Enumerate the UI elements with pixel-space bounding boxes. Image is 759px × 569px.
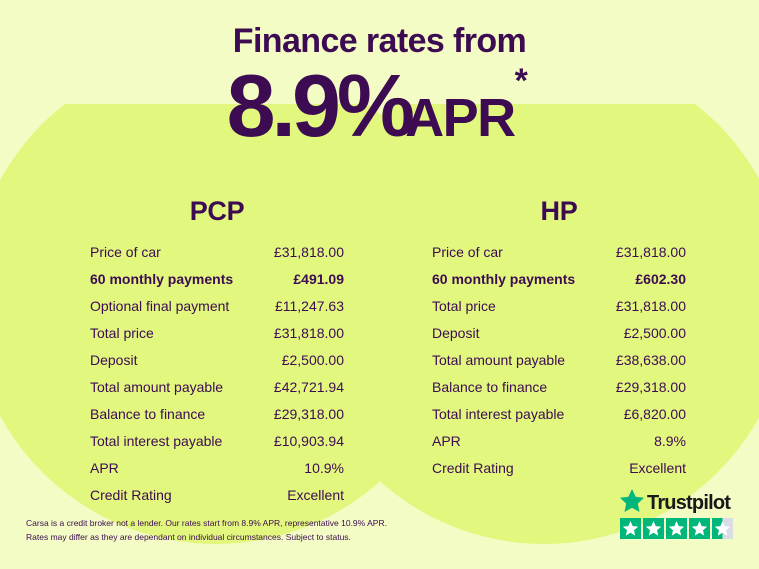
table-row: Total interest payable £6,820.00 — [432, 407, 686, 434]
plan-card-hp: HP Price of car £31,818.00 60 monthly pa… — [432, 196, 686, 488]
row-value: £6,820.00 — [624, 407, 686, 421]
poster-content: Finance rates from 8.9%APR* PCP Price of… — [0, 0, 759, 569]
table-row: Price of car £31,818.00 — [432, 245, 686, 272]
headline-rate-value: 8.9% — [227, 56, 412, 155]
table-row: Total price £31,818.00 — [432, 299, 686, 326]
disclaimer-line-1: Carsa is a credit broker not a lender. O… — [26, 517, 446, 531]
row-label: Optional final payment — [90, 299, 229, 313]
row-label: Total price — [432, 299, 496, 313]
table-row: Optional final payment £11,247.63 — [90, 299, 344, 326]
table-row: Deposit £2,500.00 — [90, 353, 344, 380]
row-value: £29,318.00 — [616, 380, 686, 394]
row-value: £38,638.00 — [616, 353, 686, 367]
row-label: Balance to finance — [432, 380, 547, 394]
row-value: £42,721.94 — [274, 380, 344, 394]
table-row: Balance to finance £29,318.00 — [90, 407, 344, 434]
plan-card-pcp: PCP Price of car £31,818.00 60 monthly p… — [90, 196, 344, 515]
row-value: £31,818.00 — [274, 245, 344, 259]
row-label: Credit Rating — [90, 488, 172, 502]
table-row: Balance to finance £29,318.00 — [432, 380, 686, 407]
table-row: APR 8.9% — [432, 434, 686, 461]
headline-apr-label: APR* — [405, 88, 526, 148]
row-label: APR — [90, 461, 119, 475]
row-label: Total amount payable — [90, 380, 223, 394]
table-row: Credit Rating Excellent — [90, 488, 344, 515]
rating-star-half-icon — [712, 518, 733, 539]
row-label: APR — [432, 434, 461, 448]
table-row: Total amount payable £42,721.94 — [90, 380, 344, 407]
row-label: Price of car — [432, 245, 503, 259]
row-label: 60 monthly payments — [90, 272, 233, 286]
legal-disclaimer: Carsa is a credit broker not a lender. O… — [26, 517, 446, 544]
row-label: Total amount payable — [432, 353, 565, 367]
row-label: Total price — [90, 326, 154, 340]
row-label: Deposit — [90, 353, 137, 367]
rating-star-icon — [666, 518, 687, 539]
trustpilot-name: Trustpilot — [647, 492, 730, 515]
table-row: 60 monthly payments £602.30 — [432, 272, 686, 299]
rating-star-icon — [689, 518, 710, 539]
row-value: £491.09 — [293, 272, 344, 286]
row-value: £11,247.63 — [275, 299, 344, 313]
row-value: 10.9% — [304, 461, 344, 475]
trustpilot-badge: Trustpilot — [620, 491, 740, 539]
finance-rates-poster: Finance rates from 8.9%APR* PCP Price of… — [0, 0, 759, 569]
row-value: £31,818.00 — [274, 326, 344, 340]
trustpilot-star-icon — [620, 489, 644, 517]
trustpilot-rating-stars — [620, 518, 740, 539]
table-row: Price of car £31,818.00 — [90, 245, 344, 272]
plan-title-pcp: PCP — [90, 196, 344, 227]
table-row: Total interest payable £10,903.94 — [90, 434, 344, 461]
row-label: 60 monthly payments — [432, 272, 575, 286]
row-label: Total interest payable — [90, 434, 222, 448]
table-row: 60 monthly payments £491.09 — [90, 272, 344, 299]
row-value: £2,500.00 — [624, 326, 686, 340]
disclaimer-line-2: Rates may differ as they are dependant o… — [26, 531, 446, 545]
row-label: Credit Rating — [432, 461, 514, 475]
rating-star-icon — [620, 518, 641, 539]
apr-text: APR — [405, 88, 515, 148]
asterisk-icon: * — [515, 62, 527, 100]
rating-star-icon — [643, 518, 664, 539]
trustpilot-wordmark: Trustpilot — [620, 491, 740, 515]
table-row: Total amount payable £38,638.00 — [432, 353, 686, 380]
plan-title-hp: HP — [432, 196, 686, 227]
row-label: Balance to finance — [90, 407, 205, 421]
table-row: Deposit £2,500.00 — [432, 326, 686, 353]
row-value: £29,318.00 — [274, 407, 344, 421]
row-value: £31,818.00 — [616, 245, 686, 259]
row-value: £602.30 — [635, 272, 686, 286]
row-value: £31,818.00 — [616, 299, 686, 313]
row-value: £2,500.00 — [282, 353, 344, 367]
plan-rows-pcp: Price of car £31,818.00 60 monthly payme… — [90, 245, 344, 515]
row-label: Total interest payable — [432, 407, 564, 421]
headline-rate-row: 8.9%APR* — [0, 62, 759, 150]
row-label: Price of car — [90, 245, 161, 259]
table-row: Total price £31,818.00 — [90, 326, 344, 353]
table-row: Credit Rating Excellent — [432, 461, 686, 488]
row-value: Excellent — [287, 488, 344, 502]
row-value: £10,903.94 — [274, 434, 344, 448]
row-value: Excellent — [629, 461, 686, 475]
table-row: APR 10.9% — [90, 461, 344, 488]
row-value: 8.9% — [654, 434, 686, 448]
plan-rows-hp: Price of car £31,818.00 60 monthly payme… — [432, 245, 686, 488]
row-label: Deposit — [432, 326, 479, 340]
